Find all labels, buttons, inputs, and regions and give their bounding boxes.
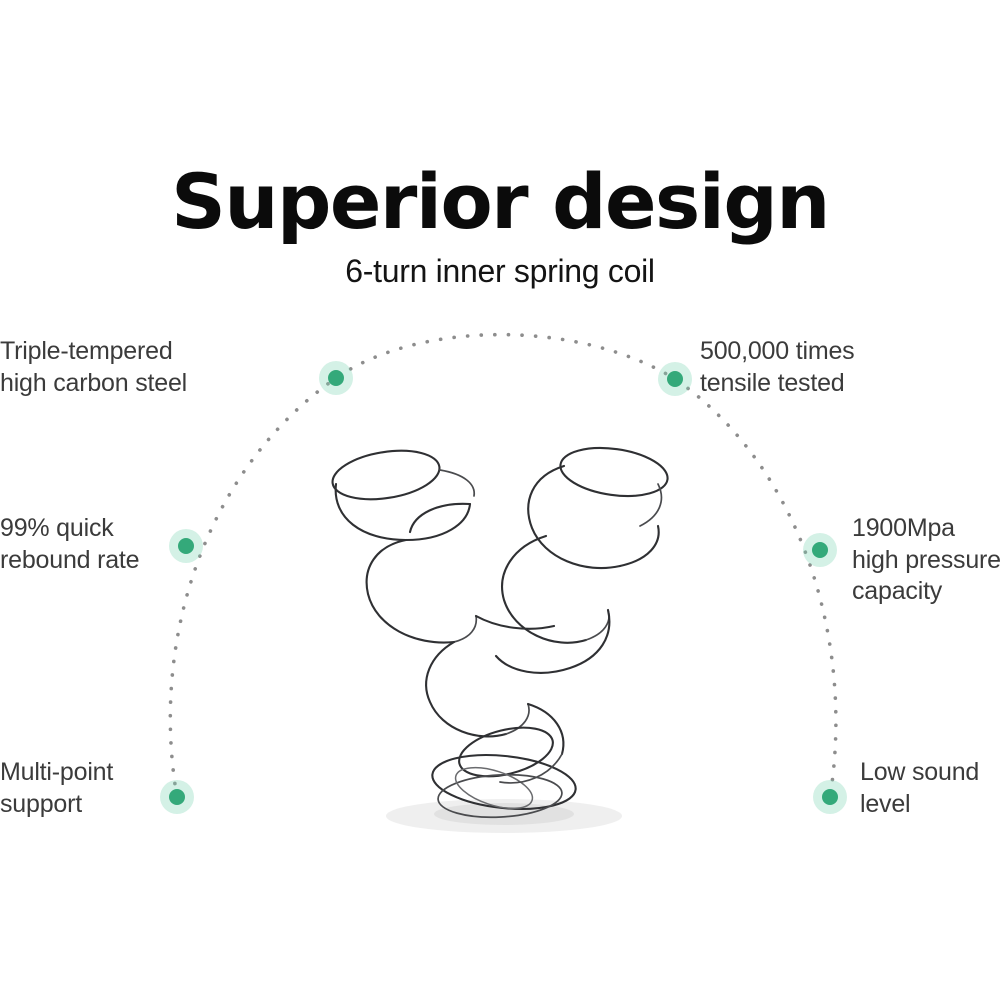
callout-marker-1900mpa-high-pressure-capacity[interactable]: [803, 533, 837, 567]
callout-line: high carbon steel: [0, 368, 115, 400]
callout-marker-low-sound-level[interactable]: [813, 780, 847, 814]
callout-line: 99% quick: [0, 513, 28, 545]
callout-line: high pressure: [852, 545, 1000, 577]
heading-block: Superior design 6-turn inner spring coil: [0, 163, 1000, 290]
callout-line: level: [860, 789, 979, 821]
callout-line: 1900Mpa: [852, 513, 1000, 545]
callout-label-low-sound-level: Low soundlevel: [860, 757, 979, 820]
page-subtitle: 6-turn inner spring coil: [0, 253, 1000, 290]
callout-line: tensile tested: [700, 368, 854, 400]
coil-middle-group: [426, 610, 609, 736]
callout-line: Triple-tempered: [0, 336, 115, 368]
callout-marker-multi-point-support[interactable]: [160, 780, 194, 814]
callout-line: 500,000 times: [700, 336, 854, 368]
callout-line: rebound rate: [0, 545, 28, 577]
callout-marker-triple-tempered-high-carbon-steel[interactable]: [319, 361, 353, 395]
spring-coil-graphic: [318, 440, 688, 840]
callout-line: support: [0, 789, 30, 821]
callout-label-1900mpa-high-pressure-capacity: 1900Mpahigh pressurecapacity: [852, 513, 1000, 608]
callout-label-500000-times-tensile-tested: 500,000 timestensile tested: [700, 336, 854, 399]
page-title: Superior design: [0, 163, 1000, 241]
spring-coil-illustration: [318, 440, 688, 840]
callout-label-99-percent-quick-rebound-rate: 99% quickrebound rate: [0, 513, 28, 576]
coil-right-group: [502, 442, 671, 643]
callout-line: Multi-point: [0, 757, 30, 789]
callout-label-multi-point-support: Multi-pointsupport: [0, 757, 30, 820]
callout-label-triple-tempered-high-carbon-steel: Triple-temperedhigh carbon steel: [0, 336, 115, 399]
callout-line: capacity: [852, 576, 1000, 608]
callout-line: Low sound: [860, 757, 979, 789]
coil-left-group: [329, 444, 476, 643]
callout-marker-500000-times-tensile-tested[interactable]: [658, 362, 692, 396]
infographic-canvas: Superior design 6-turn inner spring coil: [0, 0, 1000, 1000]
callout-marker-99-percent-quick-rebound-rate[interactable]: [169, 529, 203, 563]
